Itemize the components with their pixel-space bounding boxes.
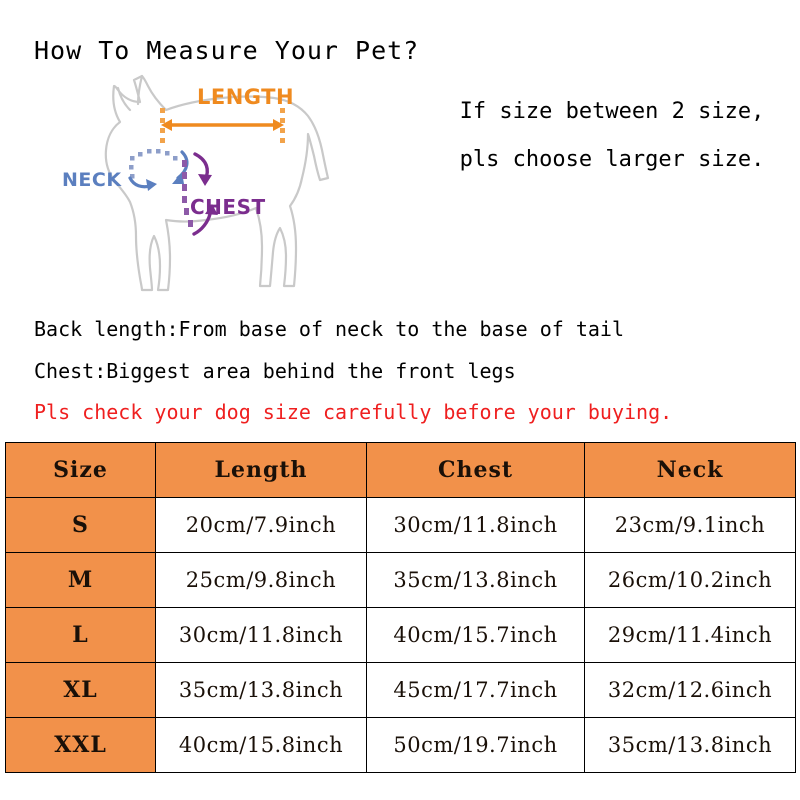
column-header-neck: Neck [585, 443, 796, 498]
cell-size: M [6, 553, 156, 608]
cell-chest: 45cm/17.7inch [367, 663, 585, 718]
cell-neck: 35cm/13.8inch [585, 718, 796, 773]
cell-size: S [6, 498, 156, 553]
cell-neck: 32cm/12.6inch [585, 663, 796, 718]
table-row: XXL 40cm/15.8inch 50cm/19.7inch 35cm/13.… [6, 718, 796, 773]
column-header-size: Size [6, 443, 156, 498]
length-double-arrow-icon [160, 108, 285, 143]
cell-length: 30cm/11.8inch [156, 608, 367, 663]
column-header-length: Length [156, 443, 367, 498]
size-chart-table: Size Length Chest Neck S 20cm/7.9inch 30… [5, 442, 796, 773]
cell-chest: 40cm/15.7inch [367, 608, 585, 663]
cell-length: 35cm/13.8inch [156, 663, 367, 718]
pet-measurement-diagram: LENGTH NECK [62, 74, 402, 306]
column-header-chest: Chest [367, 443, 585, 498]
cell-chest: 30cm/11.8inch [367, 498, 585, 553]
size-advice-line-1: If size between 2 size, [432, 88, 792, 136]
cell-length: 25cm/9.8inch [156, 553, 367, 608]
length-label: LENGTH [197, 85, 294, 109]
table-row: M 25cm/9.8inch 35cm/13.8inch 26cm/10.2in… [6, 553, 796, 608]
description-chest: Chest:Biggest area behind the front legs [34, 359, 516, 383]
page-title: How To Measure Your Pet? [34, 36, 419, 65]
cell-chest: 35cm/13.8inch [367, 553, 585, 608]
cell-neck: 26cm/10.2inch [585, 553, 796, 608]
cell-size: XL [6, 663, 156, 718]
cell-length: 40cm/15.8inch [156, 718, 367, 773]
neck-label: NECK [62, 169, 122, 191]
chest-arrow-head-top [198, 174, 212, 186]
cell-length: 20cm/7.9inch [156, 498, 367, 553]
size-advice-note: If size between 2 size, pls choose large… [432, 88, 792, 184]
cell-size: XXL [6, 718, 156, 773]
description-back-length: Back length:From base of neck to the bas… [34, 317, 624, 341]
table-row: L 30cm/11.8inch 40cm/15.7inch 29cm/11.4i… [6, 608, 796, 663]
neck-dotted-line [129, 149, 178, 179]
cell-neck: 29cm/11.4inch [585, 608, 796, 663]
table-header-row: Size Length Chest Neck [6, 443, 796, 498]
table-row: XL 35cm/13.8inch 45cm/17.7inch 32cm/12.6… [6, 663, 796, 718]
table-row: S 20cm/7.9inch 30cm/11.8inch 23cm/9.1inc… [6, 498, 796, 553]
neck-arrow-head-right [146, 179, 157, 191]
chest-label: CHEST [190, 195, 266, 219]
cell-size: L [6, 608, 156, 663]
cell-chest: 50cm/19.7inch [367, 718, 585, 773]
size-advice-line-2: pls choose larger size. [432, 136, 792, 184]
cell-neck: 23cm/9.1inch [585, 498, 796, 553]
warning-text: Pls check your dog size carefully before… [34, 400, 672, 424]
